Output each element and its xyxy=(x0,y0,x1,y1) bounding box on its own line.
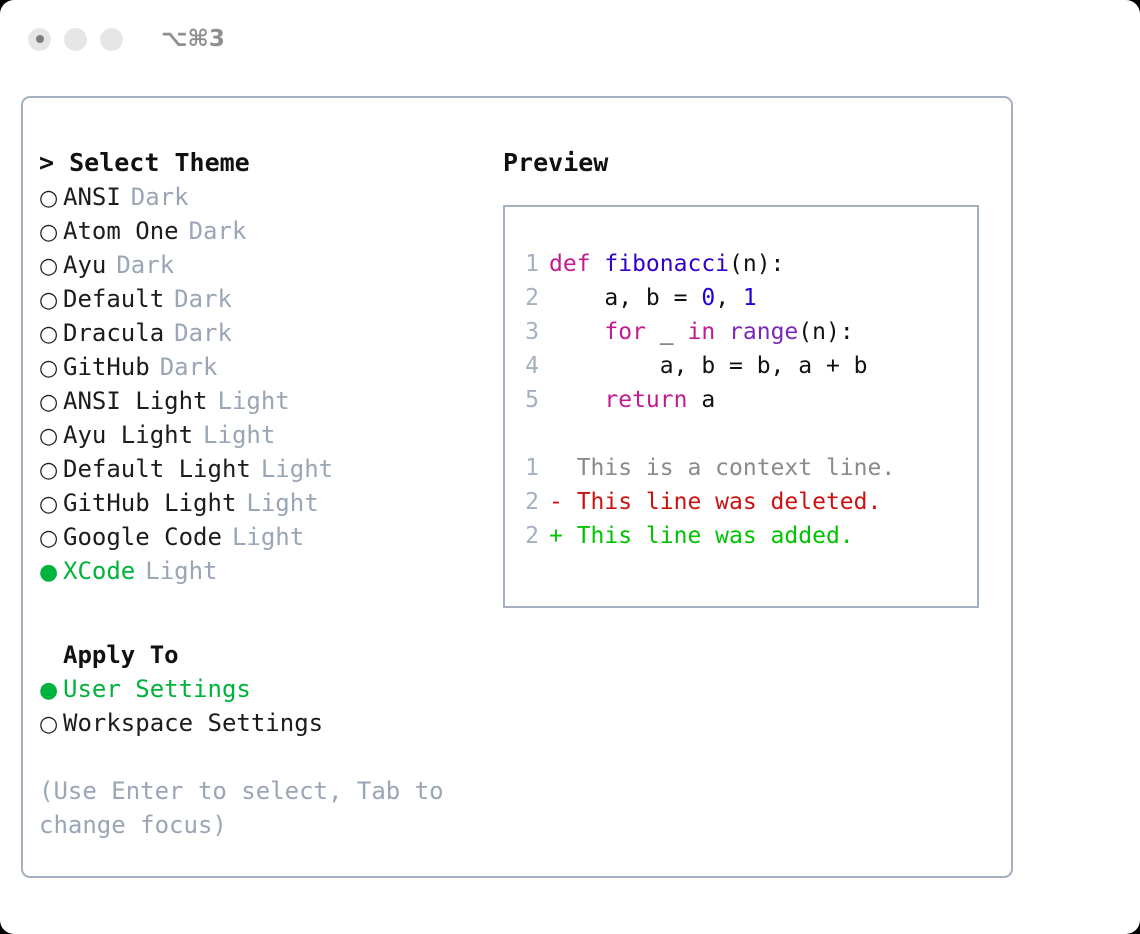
code-line: 5 return a xyxy=(505,383,977,417)
code-line-number: 4 xyxy=(505,349,549,383)
diff-line-number: 2 xyxy=(505,485,549,519)
diff-line: 2- This line was deleted. xyxy=(505,485,977,519)
select-theme-heading: > Select Theme xyxy=(39,146,499,180)
theme-option-xcode[interactable]: ●XCodeLight xyxy=(39,554,499,588)
diff-line-content: - This line was deleted. xyxy=(549,485,881,519)
code-token: def xyxy=(549,251,604,277)
theme-option-tag: Light xyxy=(261,452,333,486)
apply-to-option-label: Workspace Settings xyxy=(63,706,323,740)
code-line: 3 for _ in range(n): xyxy=(505,315,977,349)
theme-option-tag: Dark xyxy=(174,316,232,350)
theme-option-dracula[interactable]: ○DraculaDark xyxy=(39,316,499,350)
diff-line-number: 1 xyxy=(505,451,549,485)
apply-to-option-label: User Settings xyxy=(63,672,251,706)
theme-selector-column: > Select Theme ○ANSIDark○Atom OneDark○Ay… xyxy=(39,146,499,842)
theme-option-label: Ayu Light xyxy=(63,418,193,452)
code-token: range xyxy=(729,319,798,345)
code-token: (n): xyxy=(798,319,853,345)
theme-option-tag: Dark xyxy=(189,214,247,248)
theme-option-label: ANSI Light xyxy=(63,384,208,418)
radio-unselected-icon: ○ xyxy=(39,420,63,454)
code-token: fibonacci xyxy=(604,251,729,277)
radio-unselected-icon: ○ xyxy=(39,318,63,352)
code-token: a, b = b, a + b xyxy=(549,353,868,379)
diff-line-number: 2 xyxy=(505,519,549,553)
code-line-content: for _ in range(n): xyxy=(549,315,854,349)
theme-option-ayu-light[interactable]: ○Ayu LightLight xyxy=(39,418,499,452)
main-panel: > Select Theme ○ANSIDark○Atom OneDark○Ay… xyxy=(21,96,1013,878)
code-token: (n): xyxy=(729,251,784,277)
keyboard-hint-text: (Use Enter to select, Tab to change focu… xyxy=(39,774,459,842)
theme-option-tag: Light xyxy=(218,384,290,418)
code-token: _ xyxy=(646,319,688,345)
diff-line-content: This is a context line. xyxy=(549,451,895,485)
code-token: 1 xyxy=(743,285,757,311)
theme-option-google-code[interactable]: ○Google CodeLight xyxy=(39,520,499,554)
code-token: return xyxy=(604,387,687,413)
code-line-content: a, b = b, a + b xyxy=(549,349,868,383)
code-sample: 1def fibonacci(n):2 a, b = 0, 13 for _ i… xyxy=(505,247,977,417)
radio-selected-icon: ● xyxy=(39,556,63,590)
keyboard-shortcut-label: ⌥⌘3 xyxy=(161,26,225,52)
code-token xyxy=(715,319,729,345)
theme-option-label: GitHub Light xyxy=(63,486,236,520)
radio-unselected-icon: ○ xyxy=(39,386,63,420)
traffic-light-group xyxy=(28,28,123,51)
diff-line-content: + This line was added. xyxy=(549,519,854,553)
theme-option-ansi[interactable]: ○ANSIDark xyxy=(39,180,499,214)
theme-option-tag: Dark xyxy=(131,180,189,214)
code-token: a xyxy=(687,387,715,413)
theme-option-label: Dracula xyxy=(63,316,164,350)
theme-option-tag: Light xyxy=(203,418,275,452)
code-line-number: 2 xyxy=(505,281,549,315)
code-token: , xyxy=(715,285,743,311)
apply-to-option-user-settings[interactable]: ●User Settings xyxy=(39,672,499,706)
radio-selected-icon: ● xyxy=(39,674,63,708)
apply-to-list: ●User Settings○Workspace Settings xyxy=(39,672,499,740)
radio-unselected-icon: ○ xyxy=(39,284,63,318)
panel-columns: > Select Theme ○ANSIDark○Atom OneDark○Ay… xyxy=(23,98,1011,876)
theme-option-github-light[interactable]: ○GitHub LightLight xyxy=(39,486,499,520)
traffic-light-active-dot xyxy=(36,35,44,43)
preview-heading: Preview xyxy=(503,146,993,180)
theme-option-atom-one[interactable]: ○Atom OneDark xyxy=(39,214,499,248)
code-line: 2 a, b = 0, 1 xyxy=(505,281,977,315)
radio-unselected-icon: ○ xyxy=(39,454,63,488)
theme-option-github[interactable]: ○GitHubDark xyxy=(39,350,499,384)
theme-option-label: Google Code xyxy=(63,520,222,554)
code-token xyxy=(549,387,604,413)
theme-option-label: Atom One xyxy=(63,214,179,248)
apply-to-heading: Apply To xyxy=(39,638,499,672)
theme-option-ayu[interactable]: ○AyuDark xyxy=(39,248,499,282)
theme-option-tag: Light xyxy=(232,520,304,554)
code-line: 1def fibonacci(n): xyxy=(505,247,977,281)
code-line-content: return a xyxy=(549,383,715,417)
code-token: a, b = xyxy=(549,285,701,311)
radio-unselected-icon: ○ xyxy=(39,250,63,284)
radio-unselected-icon: ○ xyxy=(39,708,63,742)
diff-line: 1 This is a context line. xyxy=(505,451,977,485)
theme-option-label: ANSI xyxy=(63,180,121,214)
traffic-light-1-icon[interactable] xyxy=(28,28,51,51)
traffic-light-2-icon[interactable] xyxy=(64,28,87,51)
code-line-content: def fibonacci(n): xyxy=(549,247,784,281)
code-token xyxy=(549,319,604,345)
apply-to-option-workspace-settings[interactable]: ○Workspace Settings xyxy=(39,706,499,740)
theme-option-tag: Light xyxy=(145,554,217,588)
theme-option-tag: Dark xyxy=(174,282,232,316)
radio-unselected-icon: ○ xyxy=(39,522,63,556)
theme-option-label: GitHub xyxy=(63,350,150,384)
radio-unselected-icon: ○ xyxy=(39,182,63,216)
radio-unselected-icon: ○ xyxy=(39,488,63,522)
code-line-number: 3 xyxy=(505,315,549,349)
theme-option-label: XCode xyxy=(63,554,135,588)
radio-unselected-icon: ○ xyxy=(39,352,63,386)
theme-option-tag: Dark xyxy=(116,248,174,282)
preview-box: 1def fibonacci(n):2 a, b = 0, 13 for _ i… xyxy=(503,205,979,608)
theme-option-label: Default Light xyxy=(63,452,251,486)
code-token: in xyxy=(687,319,715,345)
app-window: ⌥⌘3 > Select Theme ○ANSIDark○Atom OneDar… xyxy=(0,0,1140,934)
diff-line: 2+ This line was added. xyxy=(505,519,977,553)
theme-option-default[interactable]: ○DefaultDark xyxy=(39,282,499,316)
theme-option-default-light[interactable]: ○Default LightLight xyxy=(39,452,499,486)
diff-sample: 1 This is a context line.2- This line wa… xyxy=(505,451,977,553)
code-token: 0 xyxy=(701,285,715,311)
code-diff-spacer xyxy=(505,417,977,451)
code-line: 4 a, b = b, a + b xyxy=(505,349,977,383)
code-line-number: 5 xyxy=(505,383,549,417)
preview-column: Preview 1def fibonacci(n):2 a, b = 0, 13… xyxy=(503,146,993,608)
code-token: for xyxy=(604,319,646,345)
radio-unselected-icon: ○ xyxy=(39,216,63,250)
window-titlebar: ⌥⌘3 xyxy=(0,0,1140,78)
theme-option-tag: Light xyxy=(246,486,318,520)
theme-option-label: Default xyxy=(63,282,164,316)
theme-option-label: Ayu xyxy=(63,248,106,282)
section-spacer xyxy=(39,588,499,638)
theme-list: ○ANSIDark○Atom OneDark○AyuDark○DefaultDa… xyxy=(39,180,499,588)
theme-option-tag: Dark xyxy=(160,350,218,384)
code-line-content: a, b = 0, 1 xyxy=(549,281,757,315)
theme-option-ansi-light[interactable]: ○ANSI LightLight xyxy=(39,384,499,418)
code-line-number: 1 xyxy=(505,247,549,281)
traffic-light-3-icon[interactable] xyxy=(100,28,123,51)
